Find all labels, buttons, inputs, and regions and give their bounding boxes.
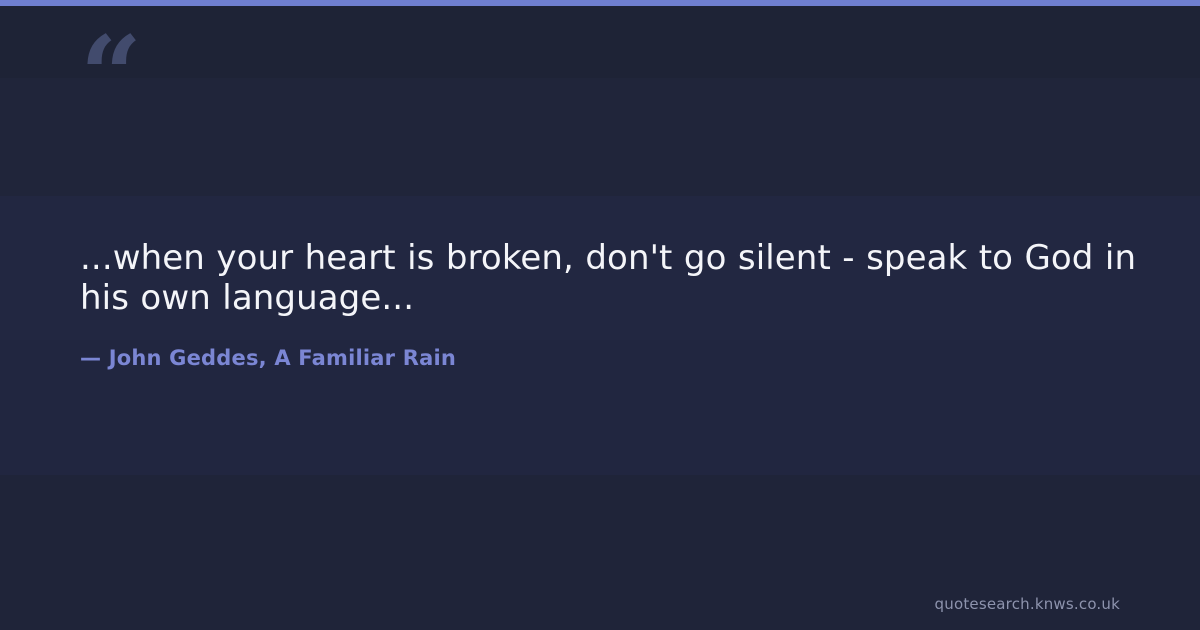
opening-quote-icon: “ [80, 22, 140, 130]
quote-card: “ ...when your heart is broken, don't go… [0, 0, 1200, 630]
site-watermark: quotesearch.knws.co.uk [935, 595, 1120, 613]
quote-attribution: — John Geddes, A Familiar Rain [80, 318, 1140, 370]
quote-text: ...when your heart is broken, don't go s… [80, 238, 1140, 318]
quote-content: ...when your heart is broken, don't go s… [80, 238, 1140, 370]
accent-top-bar [0, 0, 1200, 6]
